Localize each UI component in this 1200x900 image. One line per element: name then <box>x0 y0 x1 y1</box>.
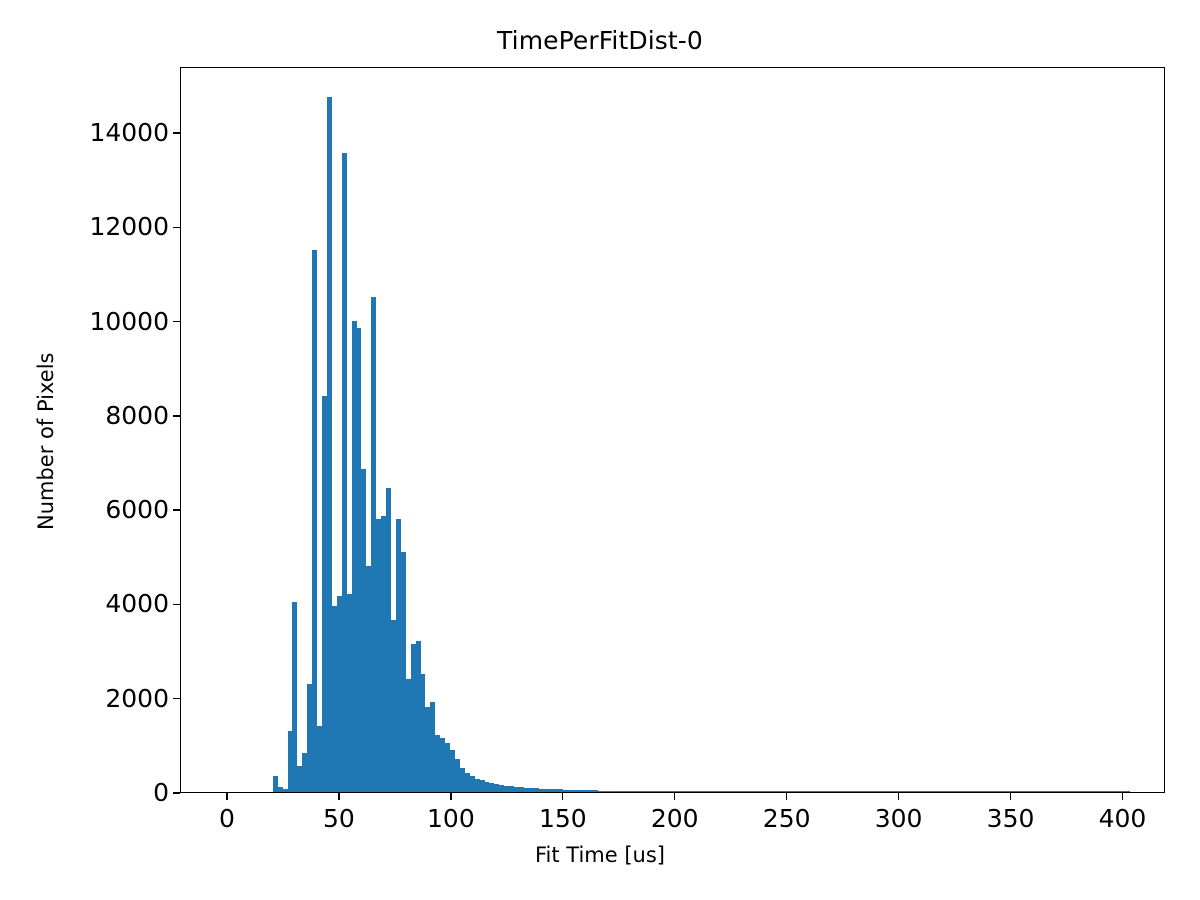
x-tick-mark <box>1010 793 1011 800</box>
histogram-bars <box>181 68 1164 792</box>
histogram-bar <box>292 602 297 792</box>
x-tick-mark <box>226 793 227 800</box>
x-tick-mark <box>338 793 339 800</box>
y-tick-label: 14000 <box>89 120 169 145</box>
x-tick-label: 300 <box>839 806 959 831</box>
y-tick-label: 10000 <box>89 309 169 334</box>
histogram-bar <box>1125 791 1130 792</box>
y-tick-label: 6000 <box>105 497 169 522</box>
y-tick-mark <box>173 698 180 699</box>
x-tick-label: 250 <box>727 806 847 831</box>
x-tick-mark <box>786 793 787 800</box>
y-tick-label: 8000 <box>105 403 169 428</box>
y-tick-label: 0 <box>153 780 169 805</box>
y-tick-label: 4000 <box>105 591 169 616</box>
x-tick-label: 150 <box>503 806 623 831</box>
chart-figure: TimePerFitDist-0 Number of Pixels Fit Ti… <box>0 0 1200 900</box>
x-tick-mark <box>898 793 899 800</box>
plot-area <box>180 67 1165 793</box>
y-tick-mark <box>173 132 180 133</box>
y-tick-mark <box>173 321 180 322</box>
x-tick-label: 0 <box>167 806 287 831</box>
y-tick-mark <box>173 792 180 793</box>
y-tick-mark <box>173 604 180 605</box>
x-tick-label: 200 <box>615 806 735 831</box>
y-axis-label: Number of Pixels <box>34 353 58 530</box>
y-tick-label: 12000 <box>89 214 169 239</box>
x-axis-label: Fit Time [us] <box>0 843 1200 867</box>
x-tick-mark <box>1122 793 1123 800</box>
chart-title: TimePerFitDist-0 <box>0 26 1200 55</box>
x-tick-label: 350 <box>951 806 1071 831</box>
x-tick-label: 50 <box>279 806 399 831</box>
y-tick-mark <box>173 509 180 510</box>
x-tick-label: 100 <box>391 806 511 831</box>
y-tick-mark <box>173 415 180 416</box>
histogram-bar <box>312 250 317 792</box>
x-tick-mark <box>562 793 563 800</box>
x-tick-mark <box>674 793 675 800</box>
x-tick-label: 400 <box>1062 806 1182 831</box>
x-tick-mark <box>450 793 451 800</box>
y-tick-mark <box>173 227 180 228</box>
y-tick-label: 2000 <box>105 686 169 711</box>
